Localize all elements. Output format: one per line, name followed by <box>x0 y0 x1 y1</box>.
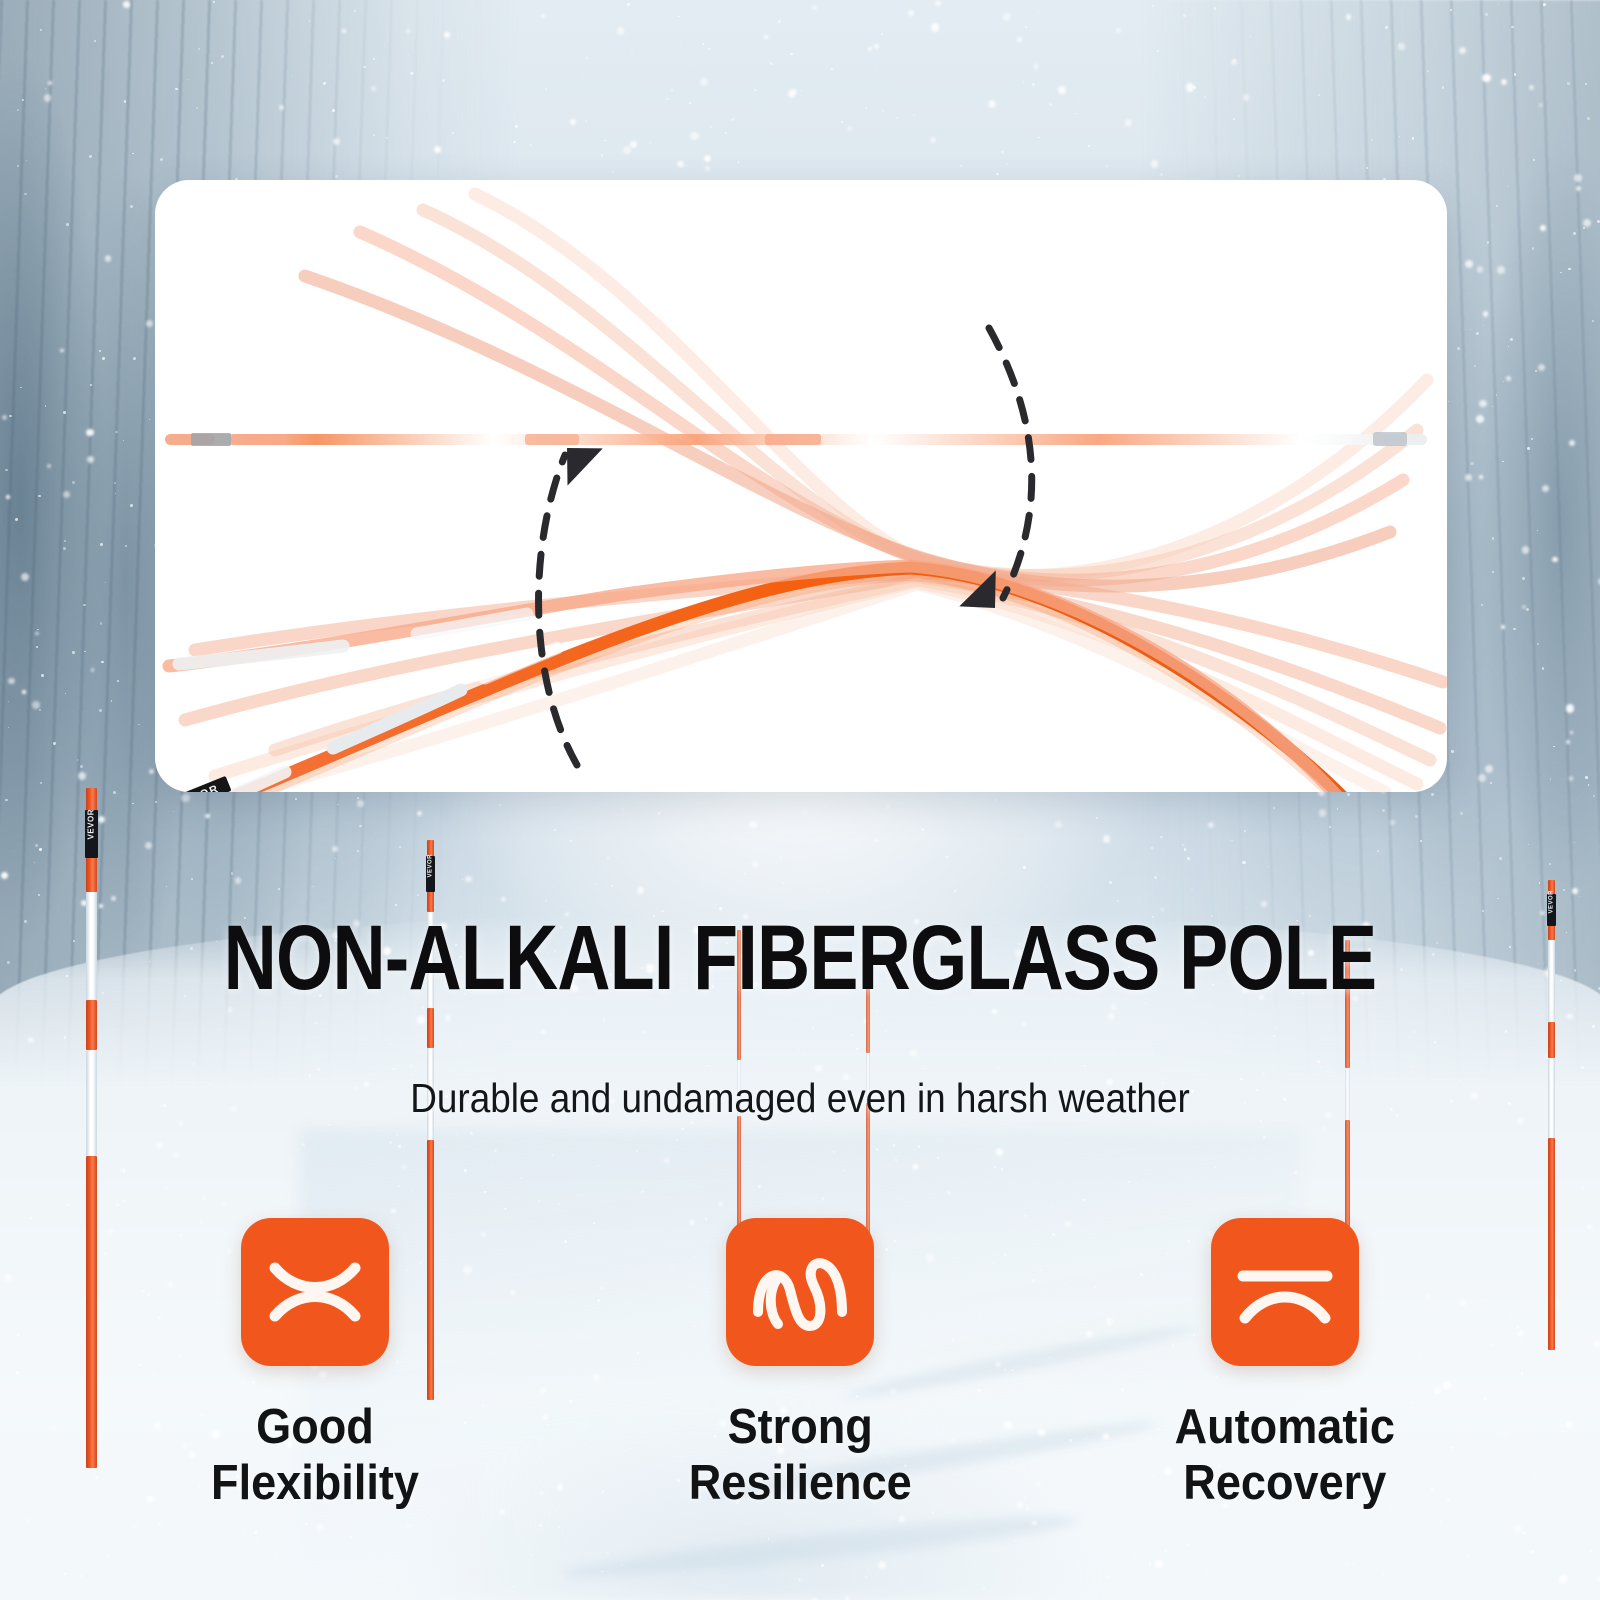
straighten-arc-icon <box>1211 1218 1359 1366</box>
ghost-curves-down <box>185 572 1443 792</box>
flex-arcs-icon <box>241 1218 389 1366</box>
marker-pole-far-right: VEVOR <box>1548 880 1555 1350</box>
feature-label-line2: Flexibility <box>211 1456 419 1512</box>
pole-segment-white <box>1548 940 1555 1022</box>
feature-label-flexibility: Good Flexibility <box>211 1400 419 1512</box>
pole-segment-orange <box>86 1156 97 1468</box>
page-subtitle: Durable and undamaged even in harsh weat… <box>80 1078 1520 1119</box>
pole-segment-orange <box>1548 1138 1555 1350</box>
pole-brand-text: VEVOR <box>88 827 96 840</box>
feature-label-recovery: Automatic Recovery <box>1175 1400 1395 1512</box>
pole-segment-orange <box>866 1103 870 1235</box>
pole-bend-illustration: VEVOR <box>155 180 1447 792</box>
pole-brand-label: VEVOR <box>426 856 435 892</box>
pole-segment-orange <box>427 1008 434 1048</box>
pole-brand-label: VEVOR <box>1547 894 1556 926</box>
feature-label-resilience: Strong Resilience <box>688 1400 911 1512</box>
marker-pole-far-left: VEVOR <box>86 788 97 1468</box>
ghost-curves-up <box>305 194 1427 586</box>
page-title: NON-ALKALI FIBERGLASS POLE <box>160 912 1440 1004</box>
pole-segment-orange <box>1548 1022 1555 1058</box>
feature-item-resilience: Strong Resilience <box>635 1218 965 1512</box>
feature-item-recovery: Automatic Recovery <box>1120 1218 1450 1512</box>
feature-label-line2: Resilience <box>688 1456 911 1512</box>
feature-label-line1: Automatic <box>1175 1400 1395 1454</box>
pole-brand-text: VEVOR <box>1549 905 1555 914</box>
feature-item-flexibility: Good Flexibility <box>150 1218 480 1512</box>
feature-label-line1: Strong <box>727 1400 872 1454</box>
product-marketing-image: VEVOR VEVOR VEVOR <box>0 0 1600 1600</box>
feature-label-line2: Recovery <box>1175 1456 1395 1512</box>
dashed-arc-arrow-down <box>989 328 1032 598</box>
straight-reference-pole <box>165 432 1427 446</box>
pole-segment-white <box>86 892 97 1000</box>
product-demo-panel: VEVOR <box>155 180 1447 792</box>
pole-brand-text: VEVOR <box>428 869 434 878</box>
pole-brand-label: VEVOR <box>85 810 98 858</box>
pole-segment-white <box>1548 1058 1555 1138</box>
feature-list: Good Flexibility Strong Resilience <box>150 1218 1450 1512</box>
feature-label-line1: Good <box>256 1400 374 1454</box>
pole-segment-orange <box>86 1000 97 1050</box>
spring-coil-icon <box>726 1218 874 1366</box>
